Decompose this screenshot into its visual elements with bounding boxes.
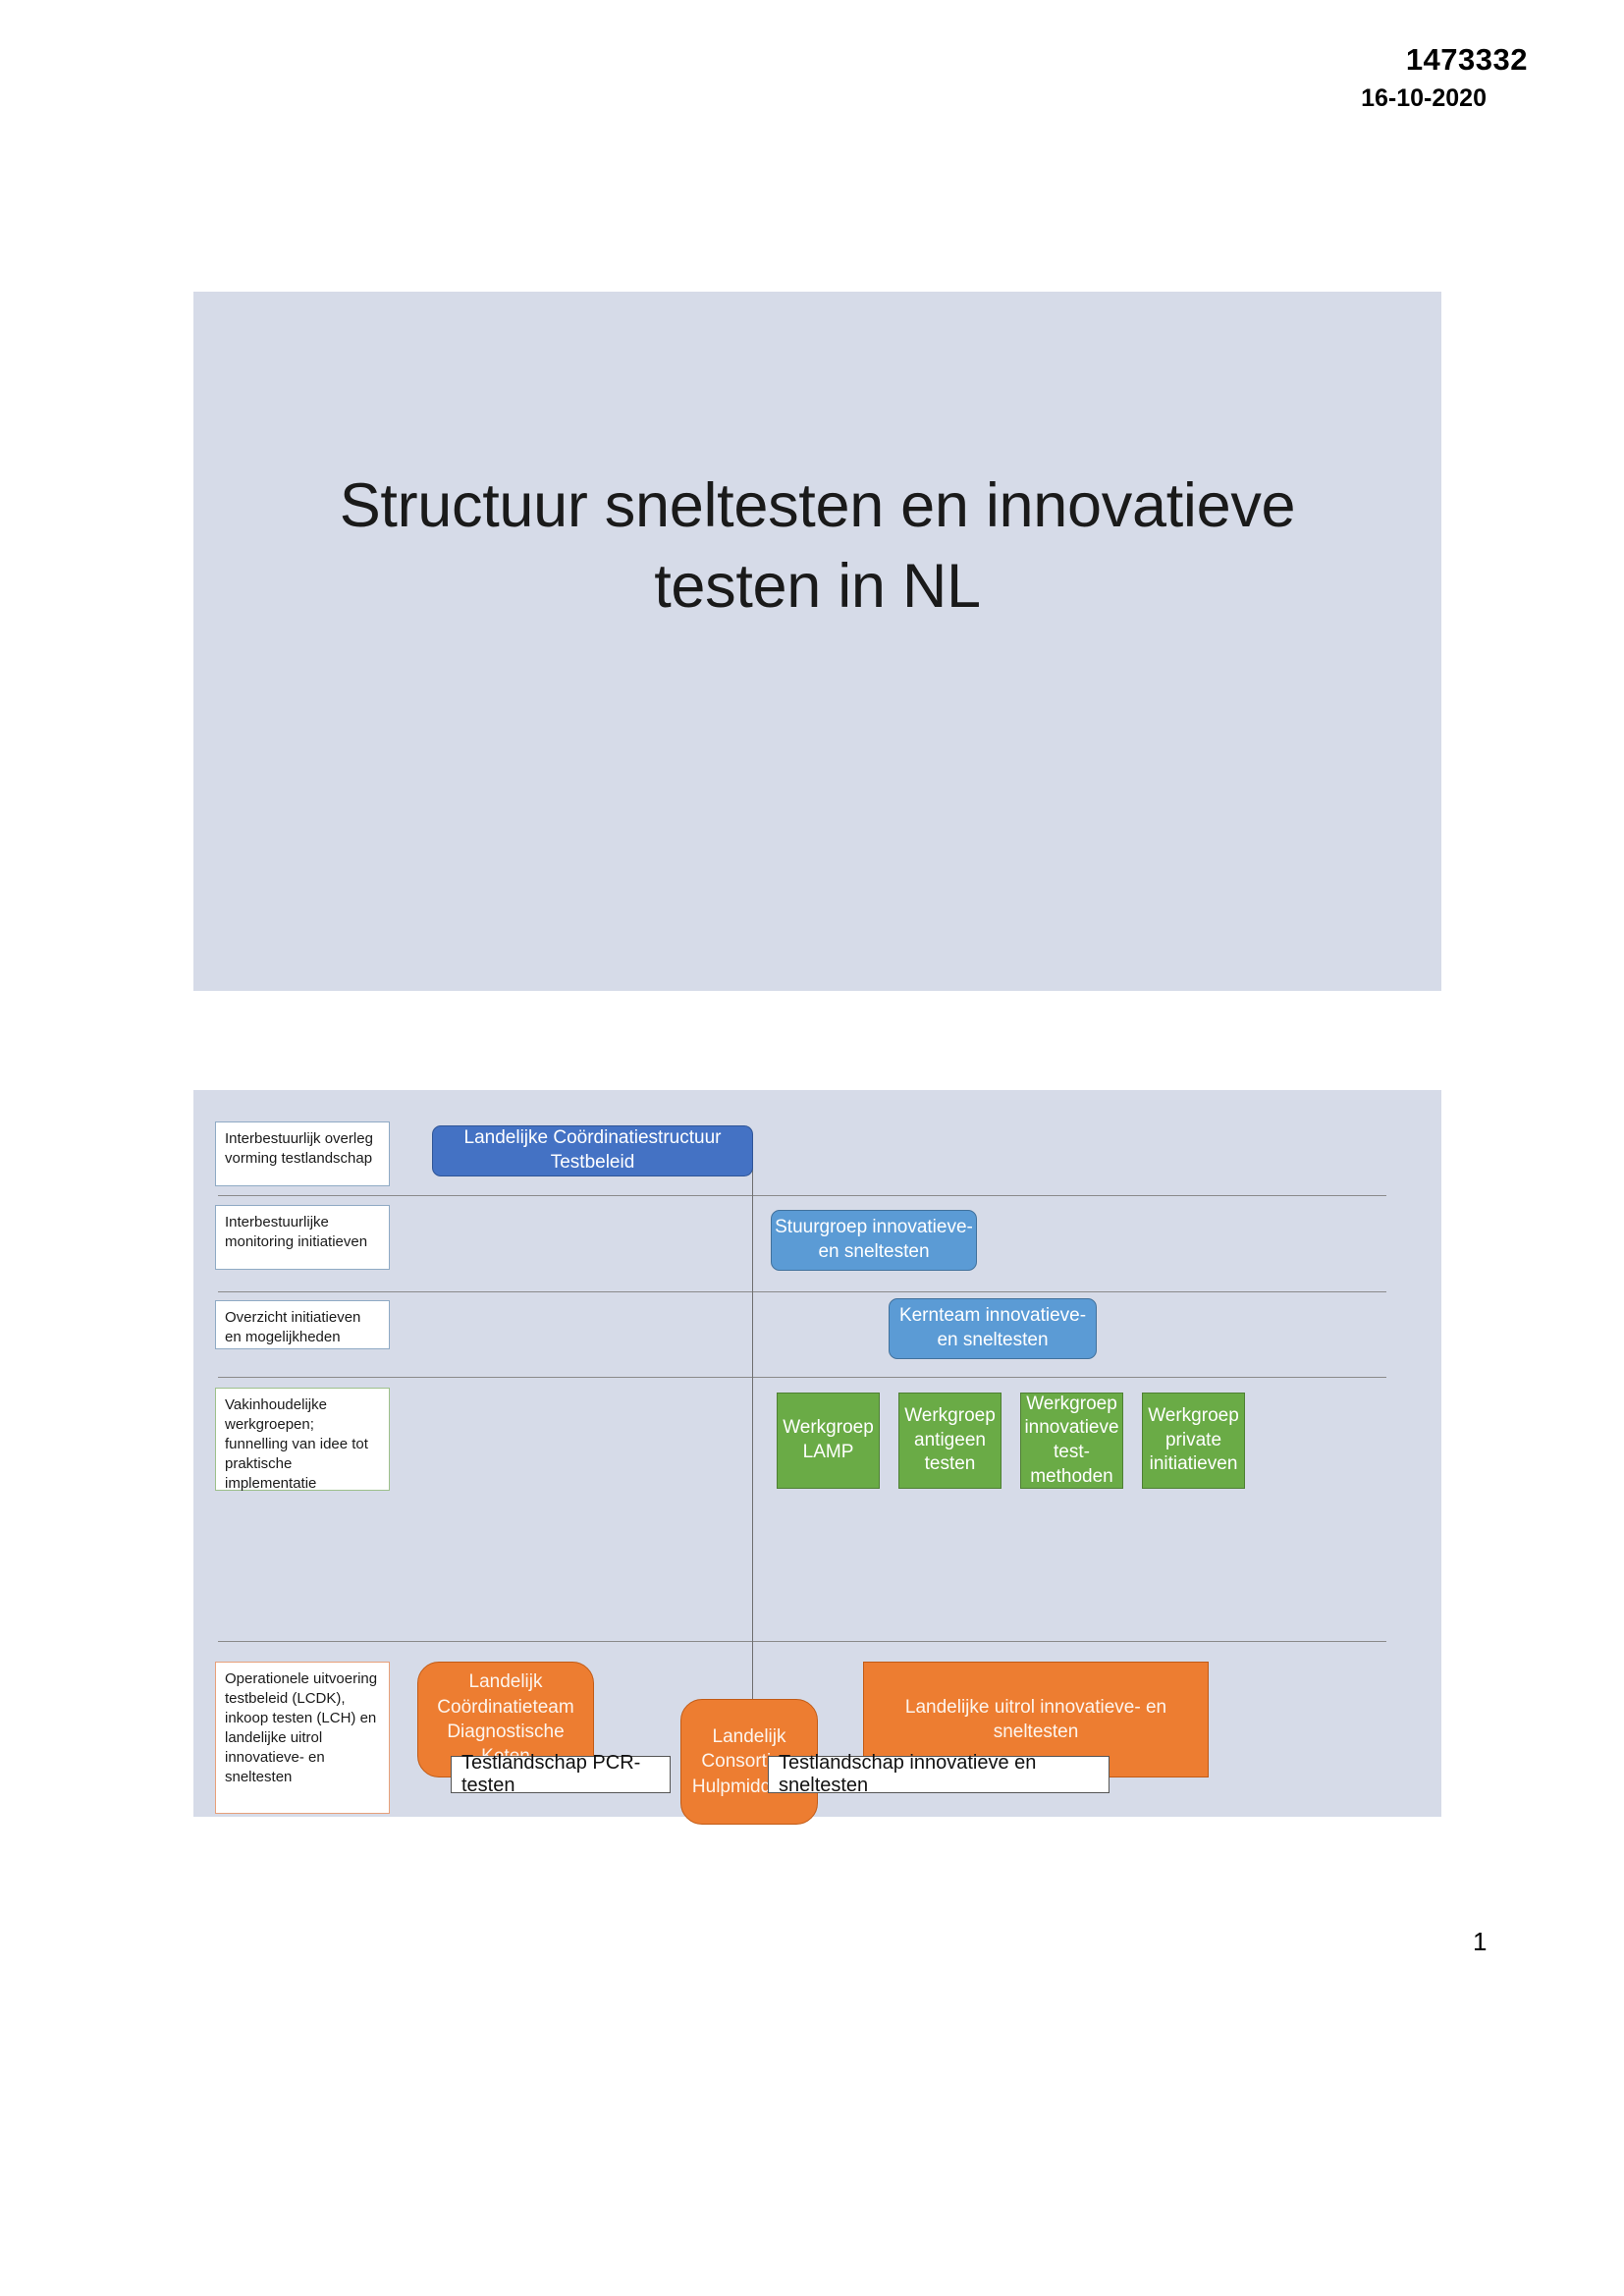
node-label: Landelijke uitrol innovatieve- en snelte… xyxy=(868,1695,1204,1745)
node-label: Werkgroep antigeen testen xyxy=(903,1404,997,1477)
node-label: Kernteam innovatieve- en sneltesten xyxy=(890,1304,1096,1352)
descriptor-box-vakinhoudelijke-werkgroepen: Vakinhoudelijke werkgroepen; funnelling … xyxy=(215,1388,390,1491)
caption-testlandschap-innovatieve-en-sneltesten: Testlandschap innovatieve en sneltesten xyxy=(768,1756,1110,1793)
title-slide: Structuur sneltesten en innovatieve test… xyxy=(193,292,1441,991)
node-label: Werkgroep innovatieve test-methoden xyxy=(1024,1393,1118,1490)
diagram-slide: Interbestuurlijk overleg vorming testlan… xyxy=(193,1090,1441,1817)
document-header: 1473332 16-10-2020 xyxy=(1361,41,1528,114)
descriptor-label: Operationele uitvoering testbeleid (LCDK… xyxy=(225,1670,377,1785)
descriptor-label: Interbestuurlijk overleg vorming testlan… xyxy=(225,1130,373,1167)
caption-testlandschap-pcr-testen: Testlandschap PCR-testen xyxy=(451,1756,671,1793)
row-divider-1 xyxy=(218,1195,1386,1196)
descriptor-box-operationele-uitvoering: Operationele uitvoering testbeleid (LCDK… xyxy=(215,1662,390,1814)
row-divider-4 xyxy=(218,1641,1386,1642)
node-landelijke-coordinatiestructuur-testbeleid[interactable]: Landelijke Coördinatiestructuur Testbele… xyxy=(432,1125,753,1176)
caption-label: Testlandschap PCR-testen xyxy=(461,1752,660,1797)
node-label: Landelijke Coördinatiestructuur Testbele… xyxy=(433,1126,752,1175)
descriptor-box-overzicht-initiatieven: Overzicht initiatieven en mogelijkheden xyxy=(215,1300,390,1349)
node-werkgroep-antigeen-testen[interactable]: Werkgroep antigeen testen xyxy=(898,1393,1001,1489)
node-werkgroep-innovatieve-test-methoden[interactable]: Werkgroep innovatieve test-methoden xyxy=(1020,1393,1123,1489)
row-divider-2 xyxy=(218,1291,1386,1292)
descriptor-label: Vakinhoudelijke werkgroepen; funnelling … xyxy=(225,1396,368,1492)
caption-label: Testlandschap innovatieve en sneltesten xyxy=(779,1752,1099,1797)
node-werkgroep-lamp[interactable]: Werkgroep LAMP xyxy=(777,1393,880,1489)
page-number: 1 xyxy=(1473,1927,1487,1957)
page-title: Structuur sneltesten en innovatieve test… xyxy=(193,466,1441,628)
descriptor-box-interbestuurlijk-overleg: Interbestuurlijk overleg vorming testlan… xyxy=(215,1121,390,1186)
row-divider-3 xyxy=(218,1377,1386,1378)
document-number: 1473332 xyxy=(1361,41,1528,80)
vertical-divider xyxy=(752,1145,753,1772)
descriptor-label: Interbestuurlijke monitoring initiatieve… xyxy=(225,1214,367,1250)
node-label: Werkgroep private initiatieven xyxy=(1147,1404,1240,1477)
node-stuurgroep-innovatieve-en-sneltesten[interactable]: Stuurgroep innovatieve- en sneltesten xyxy=(771,1210,977,1271)
node-label: Stuurgroep innovatieve- en sneltesten xyxy=(772,1216,976,1264)
document-date: 16-10-2020 xyxy=(1361,83,1487,114)
node-kernteam-innovatieve-en-sneltesten[interactable]: Kernteam innovatieve- en sneltesten xyxy=(889,1298,1097,1359)
node-werkgroep-private-initiatieven[interactable]: Werkgroep private initiatieven xyxy=(1142,1393,1245,1489)
node-label: Werkgroep LAMP xyxy=(782,1416,875,1464)
descriptor-box-interbestuurlijke-monitoring: Interbestuurlijke monitoring initiatieve… xyxy=(215,1205,390,1270)
descriptor-label: Overzicht initiatieven en mogelijkheden xyxy=(225,1309,360,1345)
